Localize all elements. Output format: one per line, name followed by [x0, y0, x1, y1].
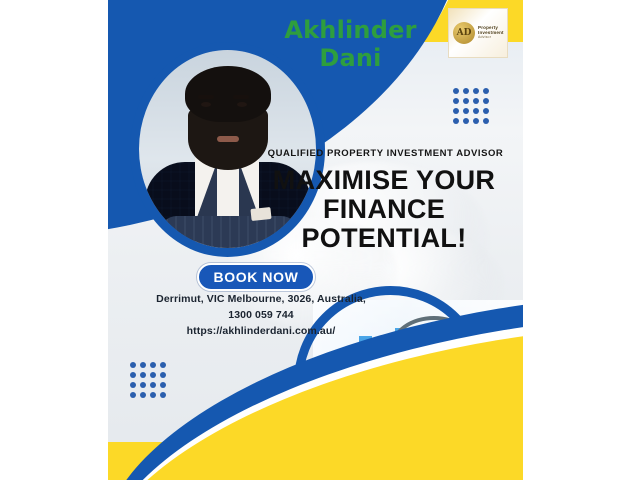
grid-dot: [150, 362, 156, 368]
grid-dot: [483, 98, 489, 104]
hair: [185, 66, 271, 122]
dot-grid-top-right: [453, 88, 489, 124]
eye-right: [237, 102, 247, 107]
headline-line-3: POTENTIAL!: [248, 224, 520, 253]
grid-dot: [463, 108, 469, 114]
headline-line-1: MAXIMISE YOUR: [248, 166, 520, 195]
grid-dot: [473, 88, 479, 94]
grid-dot: [140, 382, 146, 388]
grid-dot: [473, 108, 479, 114]
dot-grid-bottom-left: [130, 362, 166, 398]
grid-dot: [150, 392, 156, 398]
grid-dot: [483, 118, 489, 124]
logo-text: Property Investment Advisor: [478, 26, 504, 39]
grid-dot: [160, 382, 166, 388]
grid-dot: [483, 88, 489, 94]
grid-dot: [140, 362, 146, 368]
grid-dot: [453, 108, 459, 114]
mouth: [217, 136, 239, 142]
grid-dot: [150, 382, 156, 388]
eyebrow-text: QUALIFIED PROPERTY INVESTMENT ADVISOR: [258, 148, 513, 159]
grid-dot: [130, 382, 136, 388]
eyebrow-left: [198, 95, 214, 99]
grid-dot: [453, 98, 459, 104]
contact-phone: 1300 059 744: [120, 308, 402, 324]
logo-text-line2: Advisor: [478, 36, 504, 40]
brand-title: Akhlinder Dani: [258, 16, 443, 72]
contact-website[interactable]: https://akhlinderdani.com.au/: [120, 324, 402, 340]
grid-dot: [140, 372, 146, 378]
contact-details: Derrimut, VIC Melbourne, 3026, Australia…: [120, 292, 402, 339]
eyebrow-right: [233, 95, 249, 99]
grid-dot: [150, 372, 156, 378]
grid-dot: [463, 98, 469, 104]
grid-dot: [130, 362, 136, 368]
grid-dot: [160, 362, 166, 368]
contact-address: Derrimut, VIC Melbourne, 3026, Australia…: [120, 292, 402, 308]
screenshot-canvas: Akhlinder Dani AD Property Investment Ad…: [0, 0, 640, 480]
headline: MAXIMISE YOUR FINANCE POTENTIAL!: [248, 166, 520, 253]
grid-dot: [453, 118, 459, 124]
grid-dot: [483, 108, 489, 114]
grid-dot: [473, 98, 479, 104]
logo-monogram: AD: [453, 22, 475, 44]
grid-dot: [453, 88, 459, 94]
promotional-flyer: Akhlinder Dani AD Property Investment Ad…: [108, 0, 523, 480]
grid-dot: [130, 392, 136, 398]
book-now-button[interactable]: BOOK NOW: [197, 263, 315, 291]
grid-dot: [463, 88, 469, 94]
company-logo: AD Property Investment Advisor: [448, 8, 508, 58]
grid-dot: [140, 392, 146, 398]
eye-left: [201, 102, 211, 107]
headline-line-2: FINANCE: [248, 195, 520, 224]
header-band: Akhlinder Dani AD Property Investment Ad…: [108, 0, 523, 60]
grid-dot: [473, 118, 479, 124]
grid-dot: [463, 118, 469, 124]
grid-dot: [160, 372, 166, 378]
grid-dot: [130, 372, 136, 378]
grid-dot: [160, 392, 166, 398]
